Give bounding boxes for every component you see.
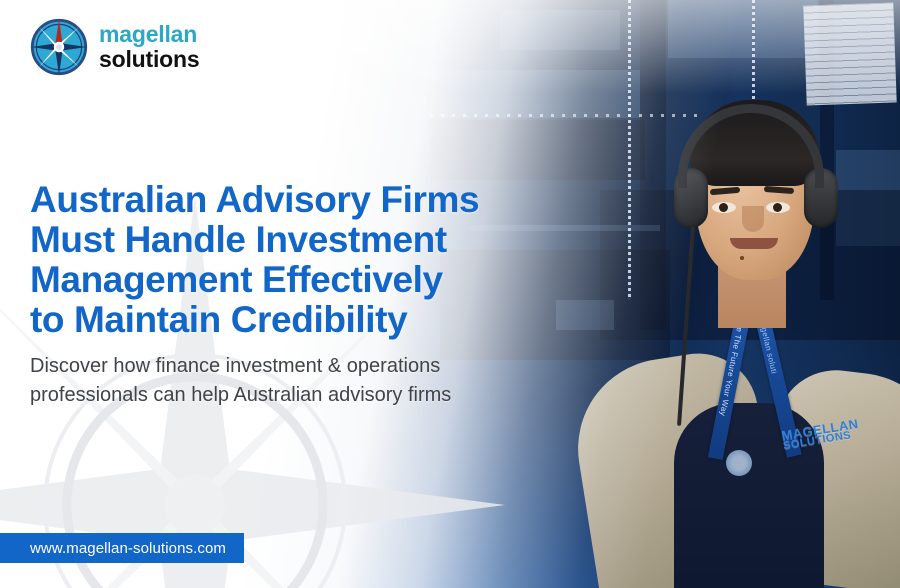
website-url-bar[interactable]: www.magellan-solutions.com xyxy=(0,533,244,563)
brand-name-solutions: solutions xyxy=(99,48,199,71)
website-url-text: www.magellan-solutions.com xyxy=(30,540,226,557)
subheadline: Discover how finance investment & operat… xyxy=(30,352,590,410)
subheadline-line-2: professionals can help Australian adviso… xyxy=(30,381,590,410)
compass-rose-icon xyxy=(30,18,88,76)
headline-line-1: Australian Advisory Firms xyxy=(30,180,590,220)
headline: Australian Advisory Firms Must Handle In… xyxy=(30,180,590,340)
headline-line-2: Must Handle Investment xyxy=(30,220,590,260)
brand-name-magellan: magellan xyxy=(99,23,199,46)
brand-wordmark: magellan solutions xyxy=(99,23,199,71)
headline-line-4: to Maintain Credibility xyxy=(30,300,590,340)
subheadline-line-1: Discover how finance investment & operat… xyxy=(30,352,590,381)
brand-logo[interactable]: magellan solutions xyxy=(30,18,199,76)
headline-line-3: Management Effectively xyxy=(30,260,590,300)
marketing-banner: See The Future Your Way magellan soluti … xyxy=(0,0,900,588)
